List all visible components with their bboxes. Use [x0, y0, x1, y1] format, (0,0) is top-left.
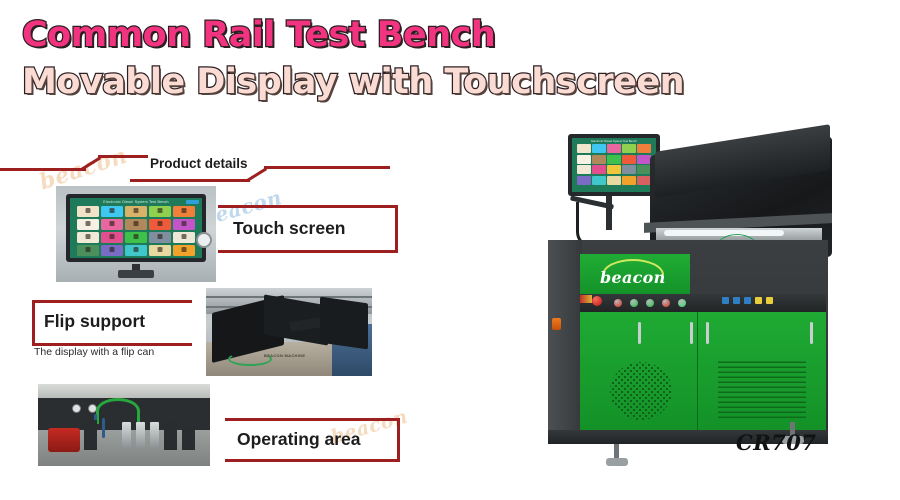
flip-support-photo: BEACON MACHINE — [206, 288, 372, 376]
rail-block-2 — [164, 420, 177, 450]
app-tile[interactable] — [592, 144, 606, 153]
cabinet-left-side — [548, 240, 582, 438]
app-tile[interactable] — [101, 245, 123, 256]
headline-block: Common Rail Test Bench Movable Display w… — [22, 18, 742, 100]
door-handle-3[interactable] — [706, 322, 709, 344]
touch-screen-label: Touch screen — [233, 218, 346, 239]
app-tile[interactable] — [607, 144, 621, 153]
info-badge-icon — [733, 297, 740, 304]
app-tile[interactable] — [607, 176, 621, 185]
app-tile[interactable] — [149, 219, 171, 230]
app-tile[interactable] — [622, 144, 636, 153]
bay-light-strip — [664, 230, 784, 236]
operating-area-label: Operating area — [237, 429, 361, 450]
poster-canvas: beacon beacon beacon beacon beacon beaco… — [0, 0, 900, 500]
hazard-warning-icon — [766, 297, 773, 304]
warning-sticker — [580, 295, 592, 303]
app-tile[interactable] — [577, 165, 591, 174]
app-tile[interactable] — [77, 232, 99, 243]
machine-tile-grid — [577, 144, 651, 185]
brand-logo-panel: beacon — [580, 254, 690, 294]
app-tile[interactable] — [125, 206, 147, 217]
rule-left-top — [98, 155, 148, 158]
app-tile[interactable] — [101, 219, 123, 230]
flip-support-label: Flip support — [44, 311, 145, 332]
app-tile[interactable] — [173, 232, 195, 243]
wall-gauge — [196, 232, 212, 248]
indicator-run-1[interactable] — [630, 299, 638, 307]
machine-monitor-screen: Electronic Diesel System Test Bench — [572, 138, 656, 192]
headline-line-2: Movable Display with Touchscreen — [22, 65, 742, 100]
app-tile[interactable] — [592, 176, 606, 185]
monitor-header-badge — [186, 200, 199, 204]
rule-left-segment — [0, 168, 86, 171]
injector-2 — [136, 422, 145, 448]
blue-hose-2 — [102, 418, 105, 438]
fs-frame-top — [32, 300, 192, 303]
emergency-stop-button[interactable] — [592, 296, 602, 306]
ts-frame-top — [218, 205, 398, 208]
app-tile[interactable] — [637, 176, 651, 185]
app-tile[interactable] — [637, 155, 651, 164]
ts-frame-right — [395, 205, 398, 253]
app-tile[interactable] — [101, 206, 123, 217]
app-tile[interactable] — [637, 165, 651, 174]
monitor-column — [606, 196, 612, 230]
app-tile[interactable] — [77, 219, 99, 230]
slotted-vent — [718, 358, 806, 418]
leveling-foot-left — [606, 458, 628, 466]
injector-3 — [150, 422, 159, 448]
oa-frame-right — [397, 418, 400, 462]
app-tile[interactable] — [101, 232, 123, 243]
app-tile[interactable] — [607, 165, 621, 174]
app-tile[interactable] — [173, 219, 195, 230]
machine-screen-header: Electronic Diesel System Test Bench — [572, 138, 656, 143]
monitor-bezel: Electronic Diesel System Test Bench — [66, 194, 206, 262]
app-tile[interactable] — [622, 176, 636, 185]
brand-name: beacon — [600, 268, 666, 287]
indicator-alarm[interactable] — [662, 299, 670, 307]
app-tile[interactable] — [125, 245, 147, 256]
indicator-ready[interactable] — [678, 299, 686, 307]
operating-area-photo — [38, 384, 210, 466]
oa-frame-top — [225, 418, 400, 421]
app-tile[interactable] — [622, 155, 636, 164]
rule-right-bottom — [130, 179, 250, 182]
emergency-stop-side[interactable] — [552, 318, 561, 330]
monitor-stand — [118, 270, 154, 278]
app-tile[interactable] — [577, 155, 591, 164]
app-tile[interactable] — [149, 245, 171, 256]
door-handle-4[interactable] — [810, 322, 813, 344]
app-tile[interactable] — [592, 155, 606, 164]
rule-right-diagonal — [247, 167, 267, 181]
app-tile[interactable] — [622, 165, 636, 174]
product-details-callout: Product details — [60, 148, 390, 184]
flipped-monitor — [320, 297, 368, 350]
usb-port-icon — [722, 297, 729, 304]
app-tile[interactable] — [125, 219, 147, 230]
app-tile[interactable] — [577, 176, 591, 185]
injector-1 — [122, 422, 131, 448]
app-tile[interactable] — [149, 232, 171, 243]
machine-monitor: Electronic Diesel System Test Bench — [568, 134, 660, 196]
rule-right-top — [264, 166, 390, 169]
door-handle-1[interactable] — [638, 322, 641, 344]
flip-support-callout: Flip support — [32, 300, 192, 346]
door-handle-2[interactable] — [690, 322, 693, 344]
rail-block-1 — [84, 420, 97, 450]
roof-beam-1 — [206, 296, 372, 298]
app-tile[interactable] — [592, 165, 606, 174]
headline-line-1: Common Rail Test Bench — [22, 18, 742, 53]
indicator-power[interactable] — [614, 299, 622, 307]
app-tile[interactable] — [637, 144, 651, 153]
app-tile[interactable] — [173, 245, 195, 256]
rule-left-diagonal — [81, 156, 101, 170]
app-tile[interactable] — [607, 155, 621, 164]
port-badge-icon — [744, 297, 751, 304]
leveling-foot-stem-left — [614, 444, 619, 458]
indicator-run-2[interactable] — [646, 299, 654, 307]
app-tile[interactable] — [173, 206, 195, 217]
touch-screen-callout: Touch screen — [218, 205, 398, 253]
ts-frame-bottom — [218, 250, 398, 253]
monitor-screen-header: Electronic Diesel System Test Bench — [70, 198, 202, 204]
app-tile[interactable] — [77, 245, 99, 256]
app-tile[interactable] — [149, 206, 171, 217]
app-tile[interactable] — [577, 144, 591, 153]
fs-frame-left — [32, 300, 35, 346]
model-number: CR707 — [736, 430, 817, 455]
product-details-label: Product details — [150, 156, 248, 171]
touchscreen-monitor-photo: Electronic Diesel System Test Bench — [56, 186, 216, 282]
oa-frame-bottom — [225, 459, 400, 462]
shock-warning-icon — [755, 297, 762, 304]
flip-support-caption: The display with a flip can — [34, 346, 154, 358]
common-rail-test-bench: Electronic Diesel System Test Bench beac… — [510, 122, 890, 494]
operating-area-callout: Operating area — [225, 418, 400, 462]
monitor-screen: Electronic Diesel System Test Bench — [70, 198, 202, 258]
rail-block-3 — [182, 426, 195, 450]
red-drive-motor — [48, 428, 80, 452]
round-perforated-vent — [610, 362, 672, 420]
monitor-tile-grid — [77, 206, 195, 256]
machine-stencil-text: BEACON MACHINE — [264, 353, 305, 358]
app-tile[interactable] — [77, 206, 99, 217]
app-tile[interactable] — [125, 232, 147, 243]
pressure-gauge-1 — [72, 404, 81, 413]
